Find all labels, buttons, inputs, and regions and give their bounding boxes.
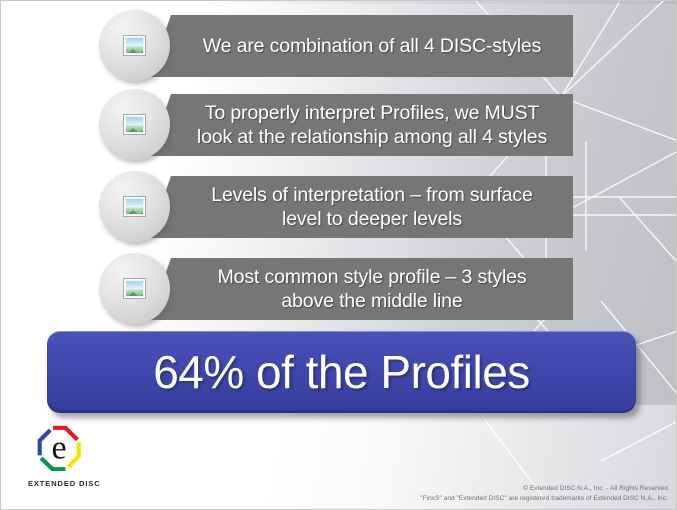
presentation-slide: We are combination of all 4 DISC-styles … <box>0 0 677 510</box>
image-placeholder-icon <box>123 278 146 299</box>
bullet-text: Most common style profile – 3 styles abo… <box>218 265 527 313</box>
bullet-icon-circle[interactable] <box>99 89 170 160</box>
logo-caption: EXTENDED DISC <box>27 479 127 488</box>
image-placeholder-icon <box>123 114 146 135</box>
bullet-icon-circle[interactable] <box>99 10 170 81</box>
extended-disc-octagon-e-icon: e <box>35 425 83 471</box>
extended-disc-logo: e EXTENDED DISC <box>27 425 127 488</box>
copyright-line-1: © Extended DISC N.A., Inc. - All Rights … <box>420 484 668 494</box>
copyright-notice: © Extended DISC N.A., Inc. - All Rights … <box>420 484 668 503</box>
bullet-icon-circle[interactable] <box>99 253 170 324</box>
bullet-bar[interactable]: To properly interpret Profiles, we MUST … <box>149 94 573 156</box>
svg-text:e: e <box>51 430 66 467</box>
bullet-bar[interactable]: Most common style profile – 3 styles abo… <box>149 258 573 320</box>
copyright-line-2: "FinxS" and "Extended DISC" are register… <box>420 494 668 504</box>
highlight-banner[interactable]: 64% of the Profiles <box>47 331 636 413</box>
bullet-text: We are combination of all 4 DISC-styles <box>203 34 541 58</box>
bullet-text: To properly interpret Profiles, we MUST … <box>197 101 547 149</box>
highlight-banner-text: 64% of the Profiles <box>153 347 530 397</box>
bullet-bar[interactable]: Levels of interpretation – from surface … <box>149 176 573 238</box>
bullet-bar[interactable]: We are combination of all 4 DISC-styles <box>149 15 573 77</box>
image-placeholder-icon <box>123 196 146 217</box>
bullet-text: Levels of interpretation – from surface … <box>211 183 532 231</box>
bullet-icon-circle[interactable] <box>99 171 170 242</box>
image-placeholder-icon <box>123 35 146 56</box>
slide-top-edge <box>1 1 677 4</box>
